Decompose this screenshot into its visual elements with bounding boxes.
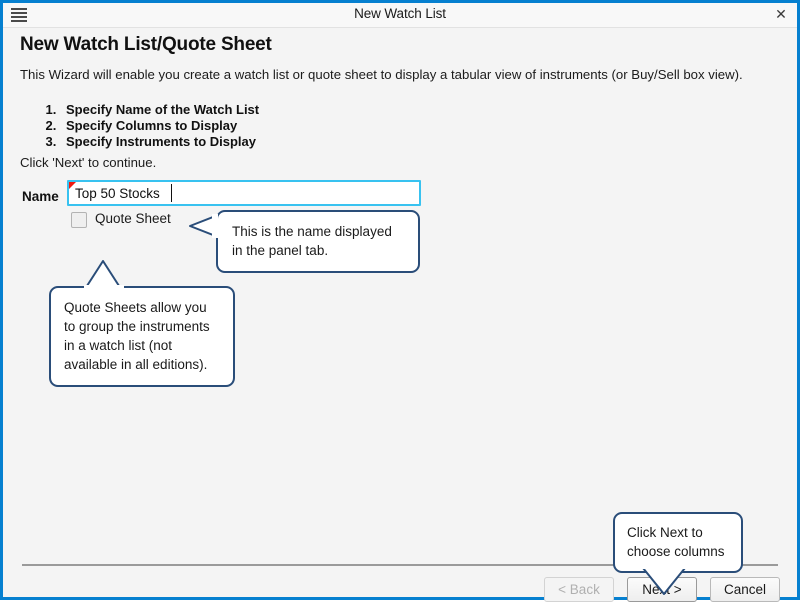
callout-name-tail-icon (188, 213, 218, 239)
title-bar: New Watch List ✕ (3, 3, 797, 28)
intro-paragraph: This Wizard will enable you create a wat… (20, 66, 782, 83)
name-input[interactable] (67, 180, 421, 206)
cancel-button[interactable]: Cancel (710, 577, 780, 602)
quote-sheet-label[interactable]: Quote Sheet (95, 211, 171, 226)
callout-quote-tail-icon (81, 258, 127, 290)
callout-quote-sheet-tip: Quote Sheets allow you to group the inst… (49, 286, 235, 387)
page-title: New Watch List/Quote Sheet (20, 34, 272, 56)
callout-next-tail-icon (639, 566, 689, 596)
step-item: Specify Instruments to Display (60, 134, 259, 150)
close-icon[interactable]: ✕ (771, 5, 791, 25)
dialog-window: New Watch List ✕ New Watch List/Quote Sh… (0, 0, 800, 600)
steps-list: Specify Name of the Watch List Specify C… (20, 102, 259, 150)
quote-sheet-checkbox[interactable] (71, 212, 87, 228)
window-title: New Watch List (3, 6, 797, 21)
required-field-marker-icon (69, 182, 76, 189)
click-next-hint: Click 'Next' to continue. (20, 155, 156, 170)
step-item: Specify Columns to Display (60, 118, 259, 134)
callout-next-text: Click Next to choose columns (627, 523, 731, 561)
name-label: Name (22, 189, 59, 204)
callout-name-tip: This is the name displayed in the panel … (216, 210, 420, 273)
back-button[interactable]: < Back (544, 577, 614, 602)
name-field-wrapper (67, 180, 421, 206)
text-cursor (171, 184, 172, 202)
callout-quote-sheet-text: Quote Sheets allow you to group the inst… (64, 298, 221, 374)
callout-next-tip: Click Next to choose columns (613, 512, 743, 573)
step-item: Specify Name of the Watch List (60, 102, 259, 118)
callout-name-text: This is the name displayed in the panel … (232, 222, 406, 260)
dialog-content: New Watch List/Quote Sheet This Wizard w… (3, 28, 797, 597)
